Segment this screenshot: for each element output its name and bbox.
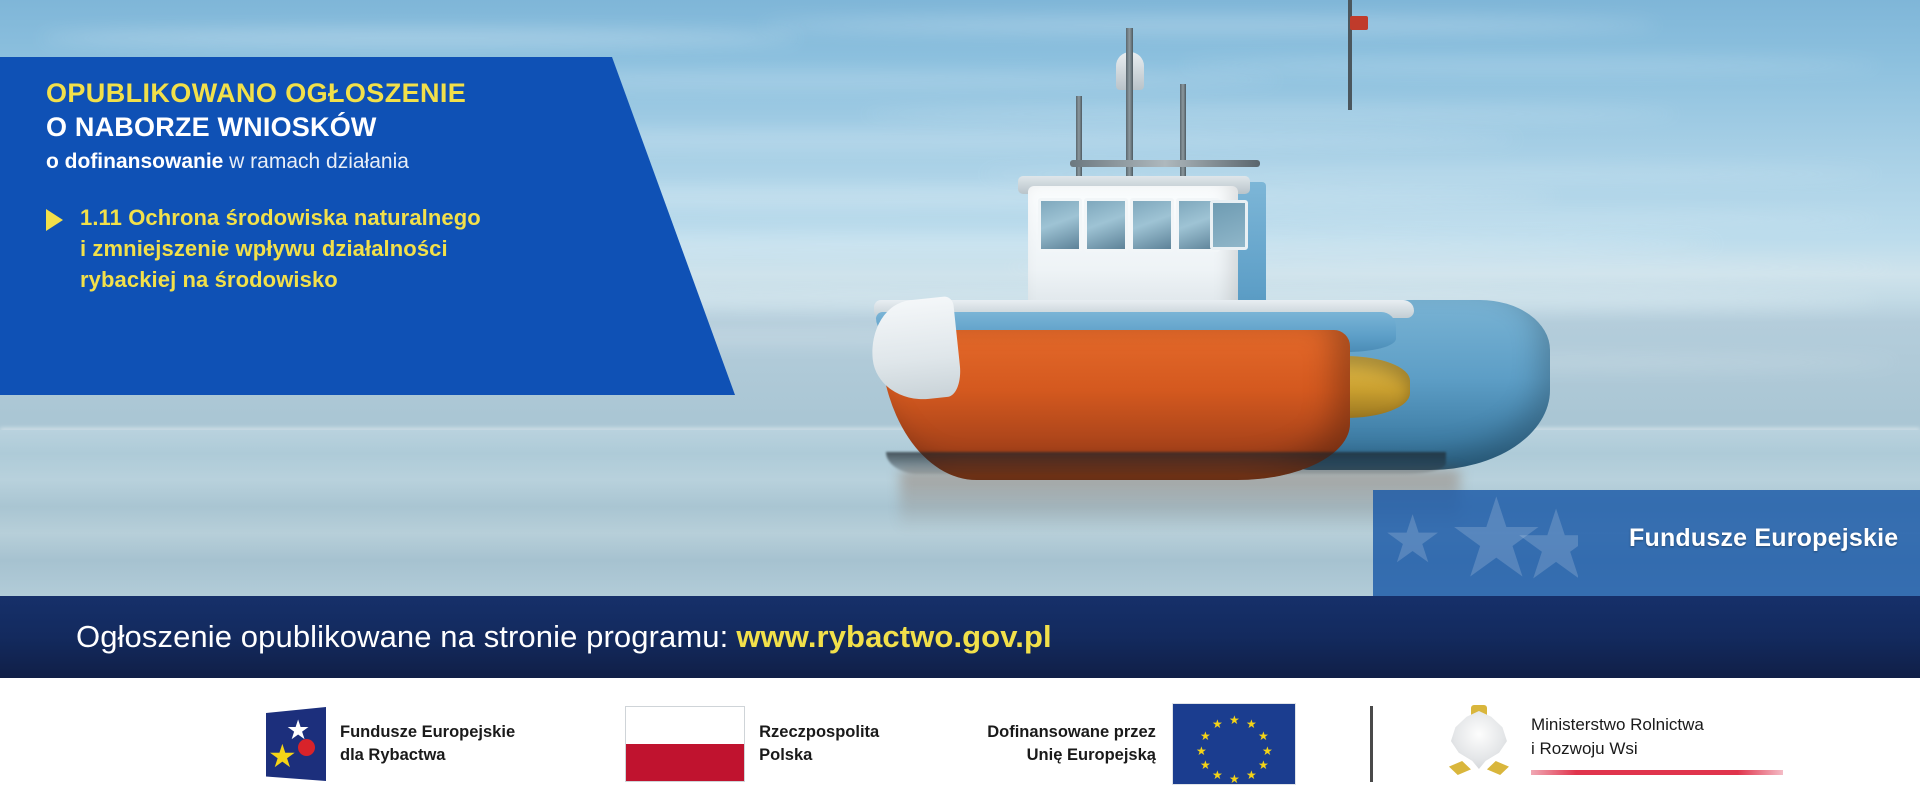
url-band-prefix: Ogłoszenie opublikowane na stronie progr… xyxy=(76,619,728,654)
red-flag-icon xyxy=(1350,16,1368,30)
cloud-streak xyxy=(40,30,800,46)
footer-poland-logo: Rzeczpospolita Polska xyxy=(515,706,879,782)
boom xyxy=(1070,160,1260,167)
measure-line: 1.11 Ochrona środowiska naturalnego xyxy=(80,202,566,233)
url-band-text: Ogłoszenie opublikowane na stronie progr… xyxy=(76,619,1052,655)
footer-ministry-logo: Ministerstwo Rolnictwa i Rozwoju Wsi xyxy=(1443,705,1783,783)
measure-bullet-block: 1.11 Ochrona środowiska naturalnego i zm… xyxy=(46,202,566,296)
footer-fundusze-line1: Fundusze Europejskie xyxy=(340,721,515,744)
measure-line: i zmniejszenie wpływu działalności xyxy=(80,233,566,264)
footer-poland-text: Rzeczpospolita Polska xyxy=(759,721,879,768)
footer-eu-line1: Dofinansowane przez xyxy=(987,721,1156,744)
footer-divider xyxy=(1370,706,1373,782)
fundusze-europejskie-badge: ★ ★ ★ Fundusze Europejskie xyxy=(1373,490,1920,597)
footer-logo-bar: ★ ★ Fundusze Europejskie dla Rybactwa Rz… xyxy=(0,678,1920,810)
program-url-link[interactable]: www.rybactwo.gov.pl xyxy=(736,619,1051,654)
announcement-panel: OPUBLIKOWANO OGŁOSZENIE O NABORZE WNIOSK… xyxy=(0,57,740,395)
cabin-window xyxy=(1210,200,1248,250)
footer-ministry-line2: i Rozwoju Wsi xyxy=(1531,737,1783,761)
triangle-right-icon xyxy=(46,209,63,231)
footer-ministry-text: Ministerstwo Rolnictwa i Rozwoju Wsi xyxy=(1531,713,1783,775)
fundusze-europejskie-label: Fundusze Europejskie xyxy=(1629,524,1898,553)
panel-headline: OPUBLIKOWANO OGŁOSZENIE xyxy=(46,77,566,110)
panel-third-bold: o dofinansowanie xyxy=(46,150,223,173)
footer-fundusze-line2: dla Rybactwa xyxy=(340,744,515,767)
footer-ministry-line1: Ministerstwo Rolnictwa xyxy=(1531,713,1783,737)
footer-eu-line2: Unię Europejską xyxy=(987,744,1156,767)
fundusze-europejskie-flag-icon: ★ ★ xyxy=(266,707,326,781)
panel-subheadline: O NABORZE WNIOSKÓW xyxy=(46,110,566,145)
main-mast xyxy=(1126,28,1133,198)
footer-poland-line1: Rzeczpospolita xyxy=(759,721,879,744)
url-band: Ogłoszenie opublikowane na stronie progr… xyxy=(0,596,1920,678)
polish-eagle-emblem-icon xyxy=(1443,705,1515,783)
panel-third-normal: w ramach działania xyxy=(223,150,409,173)
footer-poland-line2: Polska xyxy=(759,744,879,767)
measure-line: rybackiej na środowisko xyxy=(80,264,566,295)
announcement-panel-content: OPUBLIKOWANO OGŁOSZENIE O NABORZE WNIOSK… xyxy=(46,77,566,296)
announcement-banner: ★ ★ ★ Fundusze Europejskie OPUBLIKOWANO … xyxy=(0,0,1920,810)
cabin-window xyxy=(1084,198,1128,252)
footer-eu-text: Dofinansowane przez Unię Europejską xyxy=(987,721,1156,768)
eu-stars-icon: ★ ★ ★ xyxy=(1373,490,1578,597)
polish-flag-icon xyxy=(625,706,745,782)
cabin-window xyxy=(1038,198,1082,252)
footer-eu-logo: Dofinansowane przez Unię Europejską ★ ★ … xyxy=(987,703,1296,785)
footer-fundusze-logo: ★ ★ Fundusze Europejskie dla Rybactwa xyxy=(266,707,515,781)
panel-third-line: o dofinansowanie w ramach działania xyxy=(46,146,566,178)
cabin-window xyxy=(1130,198,1174,252)
footer-ministry-rule xyxy=(1531,770,1783,775)
footer-fundusze-text: Fundusze Europejskie dla Rybactwa xyxy=(340,721,515,768)
eu-flag-icon: ★ ★ ★ ★ ★ ★ ★ ★ ★ ★ ★ ★ xyxy=(1172,703,1296,785)
